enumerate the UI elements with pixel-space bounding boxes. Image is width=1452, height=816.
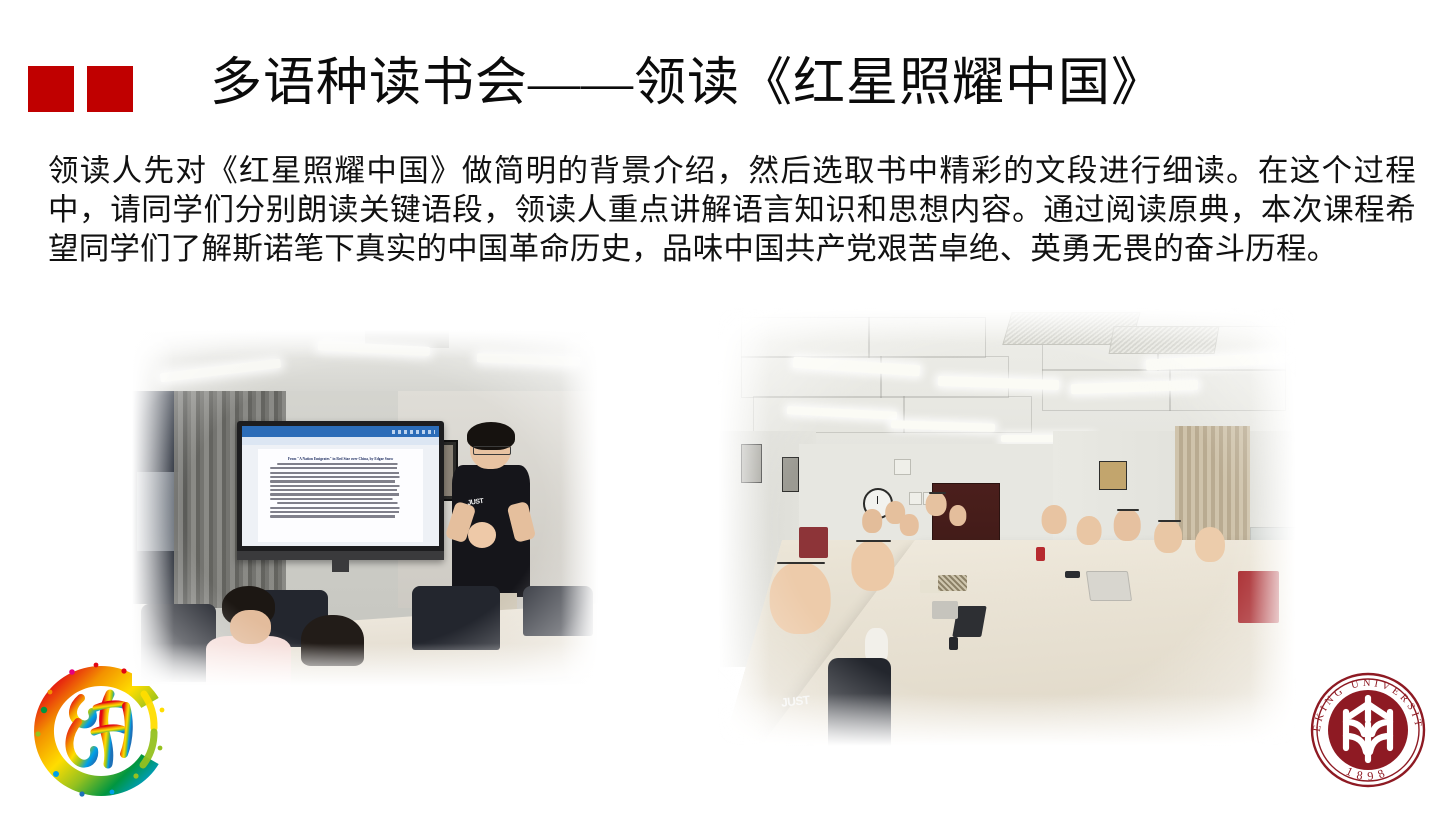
body-paragraph: 领读人先对《红星照耀中国》做简明的背景介绍，然后选取书中精彩的文段进行细读。在这… [48,152,1416,269]
slide-root: 多语种读书会——领读《红星照耀中国》 领读人先对《红星照耀中国》做简明的背景介绍… [0,0,1452,816]
page-title: 多语种读书会——领读《红星照耀中国》 [210,54,1164,114]
red-square-2 [87,66,133,112]
screen-document-title: From "A Nation Emigrates" in Red Star ov… [270,457,412,461]
open-laptop [1086,571,1133,601]
photo-right-scene: JUST [718,308,1296,746]
wall-picture-left-1 [741,444,761,483]
wall-picture-right [1099,461,1126,490]
chair-left-row [799,527,828,558]
red-square-1 [28,66,74,112]
seated-student-center [295,615,370,686]
smartboard-screen: From "A Nation Emigrates" in Red Star ov… [242,426,439,545]
peking-university-seal: PEKING UNIVERSITY 1898 [1304,660,1432,798]
laptop-device [932,601,958,619]
wall-picture-left-2 [782,457,799,492]
screen-document: From "A Nation Emigrates" in Red Star ov… [258,449,423,542]
photo-left-scene: From "A Nation Emigrates" in Red Star ov… [132,330,598,686]
photo-presenter-at-smartboard: From "A Nation Emigrates" in Red Star ov… [132,330,598,686]
foreground-shirt-text: JUST [780,691,835,731]
patterned-bag [938,575,967,591]
red-bottle [1036,547,1045,561]
smartboard: From "A Nation Emigrates" in Red Star ov… [237,421,444,560]
chair-foreground [828,658,892,746]
phone-device-2 [1065,571,1080,578]
title-decoration-squares [28,66,133,112]
logo-brush-glyph [69,694,128,764]
seated-student-left [202,586,295,686]
photo-seminar-group: JUST [718,308,1296,746]
glasses-icon [473,446,510,455]
chair-red-right [1238,571,1278,624]
multilingual-reading-club-logo [26,658,176,804]
phone-device [949,637,958,650]
